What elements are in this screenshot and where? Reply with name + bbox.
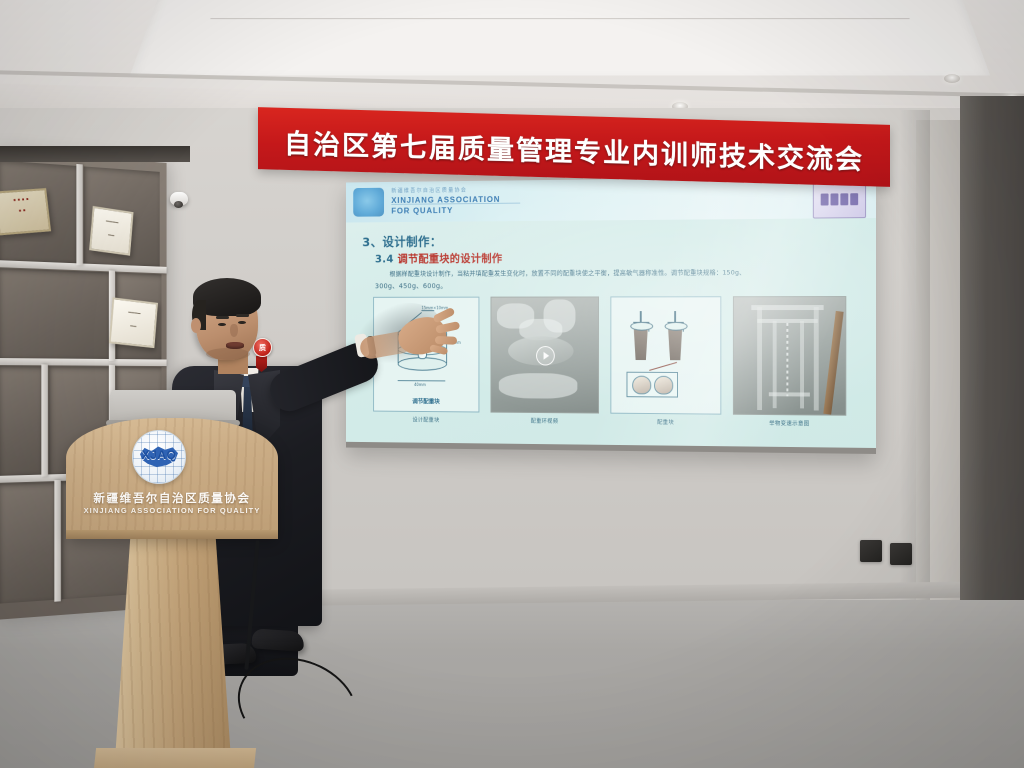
podium-edge: [66, 530, 278, 539]
slide-subheading-text: 调节配重块的设计制作: [398, 252, 503, 265]
podium-org-en: XINJIANG ASSOCIATION FOR QUALITY: [66, 506, 278, 515]
camera-lens-icon: [174, 201, 183, 208]
podium-base: [92, 748, 256, 768]
wall-outlet: [860, 540, 882, 562]
ear: [191, 318, 201, 333]
eyebrow: [236, 314, 249, 317]
play-icon[interactable]: [536, 346, 555, 365]
logo-letters: XJAQ: [133, 448, 185, 462]
slide-org-en2: FOR QUALITY: [391, 205, 453, 215]
ceiling: [0, 0, 1024, 120]
eyebrow: [216, 316, 229, 319]
panel-counterweight-photo: [610, 296, 721, 414]
dim-leader-line: [421, 310, 434, 311]
slide-subheading-number: 3.4: [375, 253, 394, 266]
counterweight-cup: [630, 313, 651, 360]
counterweight-cup: [665, 313, 686, 360]
detail-inset: [626, 372, 678, 398]
panel-caption: 配重块: [610, 418, 721, 427]
slide-body-text: 根据样配重块设计制作，当粘并填配重发生变化时，放置不同的配重块使之平衡，提高敏气…: [389, 266, 864, 280]
dim-bottom-label: 40mm: [414, 382, 426, 387]
chin-shadow: [206, 348, 250, 360]
drawing-inner-label: 调节配重块: [374, 396, 478, 405]
podium-column-grain: [114, 534, 232, 768]
certificate-frame: ▬▬▬▬ ▬▬: [89, 206, 133, 256]
slide-subheading: 3.4 调节配重块的设计制作: [375, 250, 503, 266]
panel-captions: 设计配重块 配重环视频 配重块 举物变速示意图: [373, 415, 846, 427]
finger: [435, 336, 457, 345]
ceiling-tray: [130, 0, 990, 76]
dim-line: [398, 380, 446, 381]
xjaq-logo-icon: [353, 188, 384, 217]
panel-caption: 举物变速示意图: [733, 419, 846, 428]
panel-caption: 设计配重块: [373, 415, 479, 424]
panel-lifting-diagram: [733, 296, 846, 416]
wall-outlet: [890, 543, 912, 565]
podium-org-cn: 新疆维吾尔自治区质量协会: [66, 490, 278, 506]
panel-process-video[interactable]: [490, 296, 599, 413]
certificate-frame: ▬▬▬▬ ▬▬: [109, 297, 158, 348]
lapel-badge-text: 质: [259, 343, 266, 353]
shelf-top-beam: [0, 146, 190, 162]
slide-org-cn: 新疆维吾尔自治区质量协会: [391, 186, 467, 195]
mouth: [226, 342, 244, 349]
presentation-slide: 新疆维吾尔自治区质量协会 XINJIANG ASSOCIATION FOR QU…: [346, 176, 876, 448]
downlight-icon: [944, 74, 960, 83]
projection-screen: 新疆维吾尔自治区质量协会 XINJIANG ASSOCIATION FOR QU…: [346, 176, 876, 454]
slide-heading: 3、设计制作：: [362, 231, 442, 250]
panel-caption: 配重环视频: [490, 416, 599, 425]
chain-icon: [786, 323, 788, 396]
nose: [230, 324, 238, 337]
conference-room-photo: ■ ■ ■ ■ ■ ■ ▬▬▬▬ ▬▬ ▬▬▬▬ ▬▬ 新疆维吾尔自治区质量协会…: [0, 0, 1024, 768]
xjaq-globe-logo-icon: XJAQ: [132, 430, 186, 484]
lapel-badge: 质: [253, 338, 272, 357]
slide-org-en1: XINJIANG ASSOCIATION: [391, 194, 500, 205]
certificate-plaque: ■ ■ ■ ■ ■ ■: [0, 188, 51, 235]
